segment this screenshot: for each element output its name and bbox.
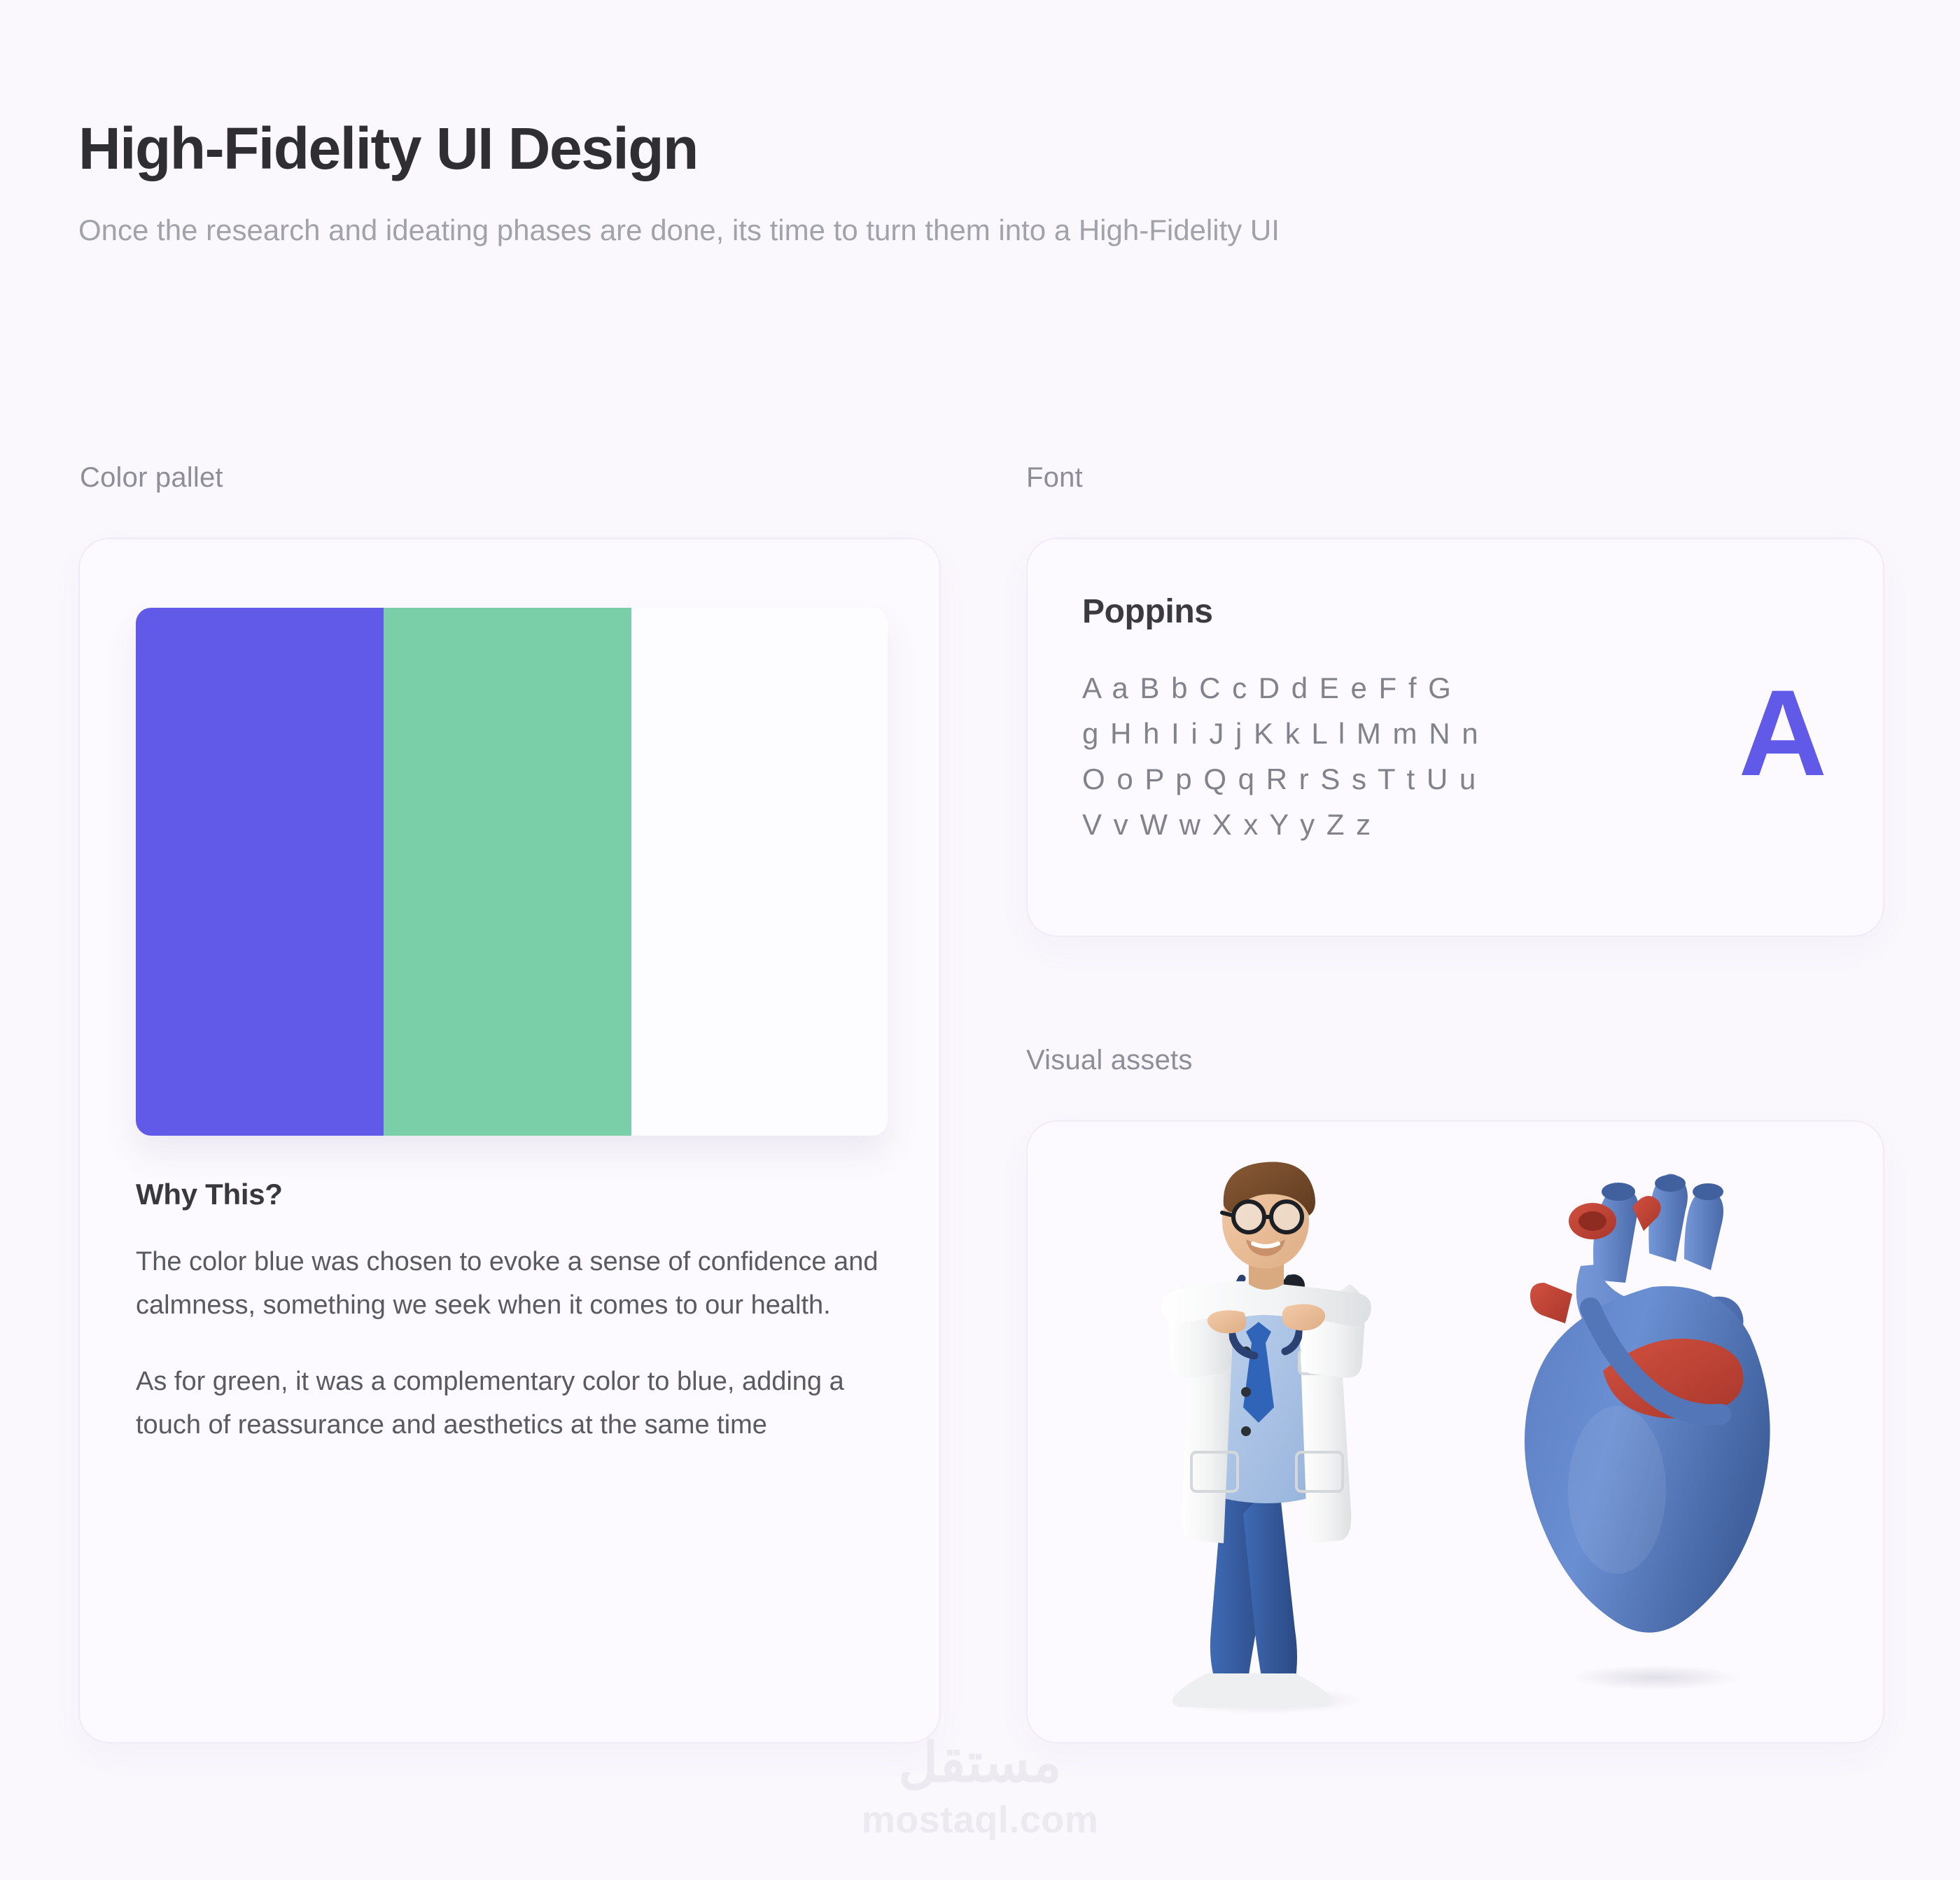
alphabet-line-1: A a B b C c D d E e F f G bbox=[1082, 665, 1480, 711]
page-title: High-Fidelity UI Design bbox=[78, 118, 1478, 180]
section-label-color-pallet: Color pallet bbox=[80, 462, 223, 494]
design-presentation-page: High-Fidelity UI Design Once the researc… bbox=[0, 0, 1960, 1880]
watermark-arabic-text: مستقل bbox=[862, 1735, 1099, 1790]
font-name-heading: Poppins bbox=[1082, 592, 1213, 631]
why-this-block: Why This? The color blue was chosen to e… bbox=[136, 1178, 892, 1447]
alphabet-line-4: V v W w X x Y y Z z bbox=[1082, 802, 1480, 847]
color-swatch-block bbox=[136, 608, 888, 1136]
heart-3d-illustration[interactable] bbox=[1505, 1161, 1799, 1693]
why-this-paragraph-1: The color blue was chosen to evoke a sen… bbox=[136, 1241, 892, 1327]
section-label-visual-assets: Visual assets bbox=[1026, 1045, 1193, 1076]
font-alphabet-specimen: A a B b C c D d E e F f G g H h I i J j … bbox=[1082, 665, 1480, 847]
page-header: High-Fidelity UI Design Once the researc… bbox=[78, 118, 1478, 252]
alphabet-line-3: O o P p Q q R r S s T t U u bbox=[1082, 756, 1480, 802]
color-pallet-card: Why This? The color blue was chosen to e… bbox=[78, 538, 941, 1743]
why-this-paragraph-2: As for green, it was a complementary col… bbox=[136, 1360, 892, 1447]
alphabet-line-2: g H h I i J j K k L l M m N n bbox=[1082, 711, 1480, 756]
visual-assets-card bbox=[1026, 1120, 1884, 1743]
section-label-font: Font bbox=[1026, 462, 1083, 494]
doctor-3d-illustration[interactable] bbox=[1119, 1147, 1413, 1714]
visual-assets-row bbox=[1028, 1122, 1883, 1742]
color-swatch-neutral-white[interactable] bbox=[631, 608, 888, 1136]
color-swatch-primary-blue[interactable] bbox=[136, 608, 384, 1136]
page-subtitle: Once the research and ideating phases ar… bbox=[78, 208, 1408, 252]
watermark: مستقل mostaql.com bbox=[862, 1735, 1099, 1839]
watermark-latin-text: mostaql.com bbox=[862, 1801, 1099, 1839]
color-swatch-secondary-green[interactable] bbox=[384, 608, 631, 1136]
why-this-heading: Why This? bbox=[136, 1178, 892, 1211]
font-specimen-letter: A bbox=[1739, 672, 1826, 795]
font-card: Poppins A a B b C c D d E e F f G g H h … bbox=[1026, 538, 1884, 937]
